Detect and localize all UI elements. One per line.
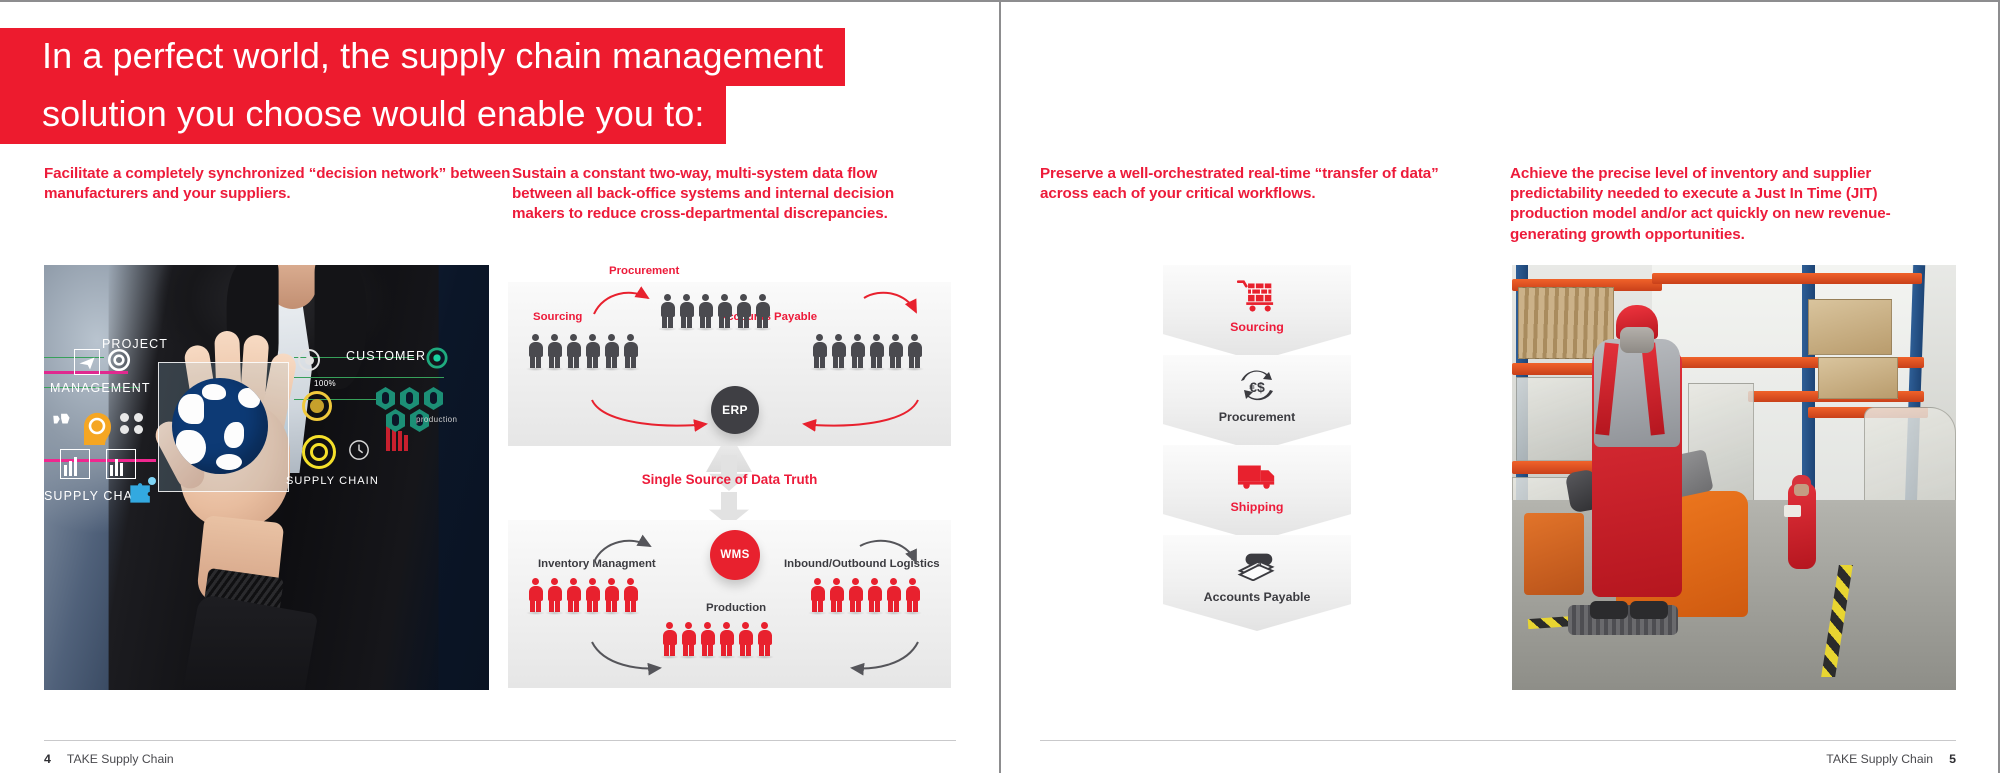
column-heading-3: Preserve a well-orchestrated real-time “… (1040, 164, 1490, 204)
technology-globe-photo: PROJECT MANAGEMENT SUPPLY CHAIN (44, 265, 489, 690)
footer-rule-right (1040, 740, 1956, 741)
footer-left: 4 TAKE Supply Chain (44, 752, 174, 766)
erp-arrows (508, 282, 951, 446)
label-project: PROJECT (102, 337, 168, 351)
page-gutter-divider (999, 0, 1001, 773)
cart-bricks-icon (1235, 276, 1279, 316)
hud-overlay-left: PROJECT MANAGEMENT SUPPLY CHAIN (44, 353, 170, 503)
worker-boot-left (1590, 601, 1628, 619)
chevron-label-procurement: Procurement (1219, 410, 1295, 424)
chevron-shipping[interactable]: Shipping (1163, 445, 1351, 541)
column-heading-2: Sustain a constant two-way, multi-system… (512, 164, 932, 225)
warehouse-photo (1512, 265, 1956, 690)
pallet-stack-2 (1516, 377, 1604, 461)
label-management: MANAGEMENT (50, 381, 151, 395)
title-line-2: solution you choose would enable you to: (0, 86, 726, 144)
chevron-label-sourcing: Sourcing (1230, 320, 1284, 334)
column-heading-1: Facilitate a completely synchronized “de… (44, 164, 514, 204)
chevron-sourcing[interactable]: Sourcing (1163, 265, 1351, 361)
head-gear-icon (80, 409, 114, 449)
worker-background-head (1794, 484, 1809, 496)
footer-rule-left (44, 740, 956, 741)
cash-payment-icon: $ (1235, 546, 1279, 586)
world-map-icon (52, 411, 78, 427)
label-customer: CUSTOMER (346, 349, 426, 363)
currency-cycle-icon: €$ (1235, 366, 1279, 406)
label-production: production (416, 415, 457, 424)
title-line-1: In a perfect world, the supply chain man… (0, 28, 845, 86)
page-number-right: 5 (1949, 752, 1956, 766)
label-supply-chain-right: SUPPLY CHAIN (286, 475, 379, 487)
clipboard-icon (1784, 505, 1801, 517)
rack-beam-4 (1652, 273, 1922, 284)
column-heading-4: Achieve the precise level of inventory a… (1510, 164, 1940, 245)
manual-pallet-jack (1524, 513, 1584, 595)
chevron-accounts-payable[interactable]: $ Accounts Payable (1163, 535, 1351, 631)
delivery-truck-icon (1235, 456, 1279, 496)
wms-arrows (508, 520, 951, 688)
clock-icon (348, 439, 370, 461)
worker-boot-right (1630, 601, 1668, 619)
hud-overlay-right: CUSTOMER 100% producti (294, 347, 489, 507)
page-spread: In a perfect world, the supply chain man… (0, 0, 2000, 773)
target-gear-icon (426, 347, 448, 369)
footer-text-right: TAKE Supply Chain (1826, 752, 1933, 766)
puzzle-icon (126, 481, 152, 507)
page-number-left: 4 (44, 752, 51, 766)
pallet-stack-4 (1808, 299, 1892, 355)
chevron-procurement[interactable]: €$ Procurement (1163, 355, 1351, 451)
footer-right: TAKE Supply Chain 5 (1826, 752, 1956, 766)
svg-text:$: $ (1257, 558, 1262, 568)
erp-label-procurement: Procurement (609, 265, 679, 277)
workflow-chevron-stack: Sourcing €$ Procurement (1163, 265, 1351, 625)
footer-text-left: TAKE Supply Chain (67, 752, 174, 766)
svg-text:€$: €$ (1249, 379, 1265, 395)
worker-head (1620, 327, 1654, 353)
globe-icon (172, 378, 268, 474)
single-source-label: Single Source of Data Truth (508, 472, 951, 487)
airplane-icon (78, 353, 96, 371)
chevron-label-accounts-payable: Accounts Payable (1204, 590, 1311, 604)
pallet-stack-5 (1818, 357, 1898, 399)
page-title: In a perfect world, the supply chain man… (0, 28, 845, 144)
chevron-label-shipping: Shipping (1231, 500, 1284, 514)
label-percent: 100% (314, 379, 336, 388)
